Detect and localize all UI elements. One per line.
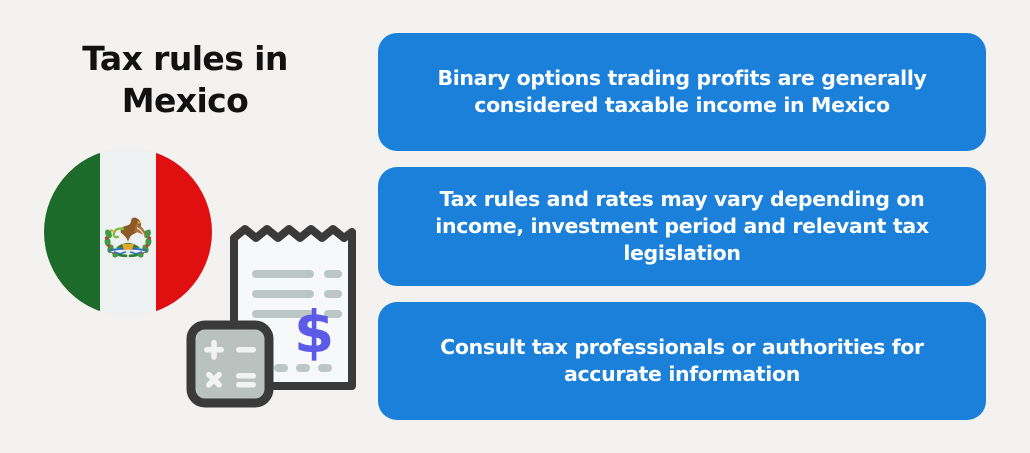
fact-card[interactable]: Binary options trading profits are gener… (378, 33, 986, 151)
calculator-icon (186, 316, 274, 408)
infographic-root: Tax rules in Mexico (0, 0, 1030, 453)
fact-card[interactable]: Tax rules and rates may vary depending o… (378, 167, 986, 285)
fact-card-text: Tax rules and rates may vary depending o… (400, 186, 964, 268)
fact-card[interactable]: Consult tax professionals or authorities… (378, 302, 986, 420)
flag-band-red (156, 148, 212, 316)
fact-card-text: Consult tax professionals or authorities… (400, 334, 964, 389)
fact-card-list: Binary options trading profits are gener… (378, 33, 986, 420)
fact-card-text: Binary options trading profits are gener… (400, 65, 964, 120)
coat-of-arms-icon (96, 204, 160, 268)
page-title: Tax rules in Mexico (30, 38, 340, 122)
flag-band-green (44, 148, 100, 316)
illustration-panel: Tax rules in Mexico (0, 0, 370, 453)
mexico-flag-circle (44, 148, 212, 316)
svg-text:$: $ (294, 298, 334, 366)
